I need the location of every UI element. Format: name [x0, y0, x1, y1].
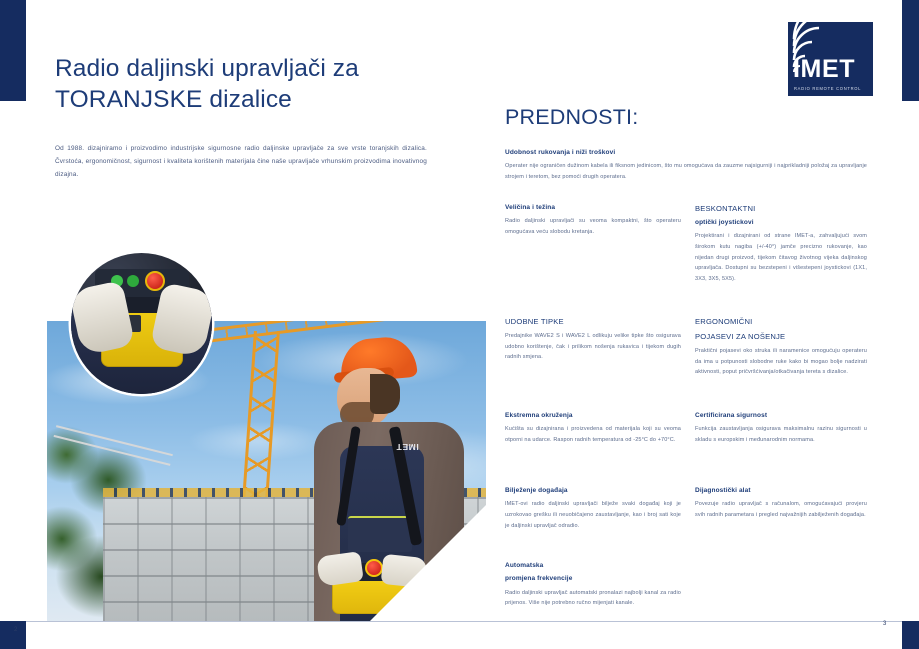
left-page: Radio daljinski upravljači za TORANJSKE … — [0, 0, 486, 649]
feature-subtitle: optički joystickovi — [695, 218, 867, 227]
advantages-section-title: PREDNOSTI: — [505, 105, 638, 130]
feature-body: Projektirani i dizajnirani od strane IME… — [695, 231, 867, 284]
imet-logo: IMET RADIO REMOTE CONTROL — [788, 22, 873, 96]
overalls-pocket — [348, 516, 412, 552]
feature-body: Praktični pojasevi oko struka ili narame… — [695, 346, 867, 378]
page-number-left: 2 — [14, 627, 18, 633]
crane-operator-photo: IMET — [296, 330, 492, 621]
feature-body: Radio daljinski upravljač automatski pro… — [505, 588, 681, 609]
feature-block: Automatska promjena frekvencije Radio da… — [505, 561, 681, 609]
feature-body: Predajnike WAVE2 S i WAVE2 L odlikuju ve… — [505, 331, 681, 363]
page-number-right: 3 — [883, 621, 887, 627]
feature-block: BESKONTAKTNI optički joystickovi Projekt… — [695, 203, 867, 284]
feature-body: Funkcija zaustavljanja osigurava maksima… — [695, 424, 867, 445]
feature-body: Radio daljinski upravljači su veoma komp… — [505, 216, 681, 237]
feature-subtitle: POJASEVI ZA NOŠENJE — [695, 331, 867, 342]
logo-wordmark: IMET — [793, 57, 855, 82]
feature-title: ERGONOMIČNI — [695, 316, 867, 327]
feature-title: Ekstremna okruženja — [505, 411, 681, 420]
feature-body: Operater nije ograničen dužinom kabela i… — [505, 161, 867, 182]
right-page: IMET RADIO REMOTE CONTROL PREDNOSTI: Udo… — [486, 0, 919, 649]
feature-title: Automatska — [505, 561, 681, 570]
feature-block: ERGONOMIČNI POJASEVI ZA NOŠENJE Praktičn… — [695, 316, 867, 378]
feature-block: Veličina i težina Radio daljinski upravl… — [505, 203, 681, 238]
remote-closeup-inset-photo — [71, 253, 212, 394]
feature-body: Kućišta su dizajnirana i proizvedena od … — [505, 424, 681, 445]
page-title: Radio daljinski upravljači za TORANJSKE … — [55, 54, 455, 116]
operator-hair — [370, 374, 400, 414]
feature-body: Povezuje radio upravljač s računalom, om… — [695, 499, 867, 520]
feature-title: Bilježenje događaja — [505, 486, 681, 495]
feature-block: Certificirana sigurnost Funkcija zaustav… — [695, 411, 867, 446]
logo-tagline: RADIO REMOTE CONTROL — [794, 86, 861, 91]
inset-emergency-stop-button[interactable] — [145, 271, 165, 291]
brochure-spread: Radio daljinski upravljači za TORANJSKE … — [0, 0, 919, 649]
feature-body: IMET-ovi radio daljinski upravljači bilj… — [505, 499, 681, 531]
feature-title: Udobnost rukovanja i niži troškovi — [505, 148, 867, 157]
work-glove-left — [316, 551, 364, 587]
feature-title: UDOBNE TIPKE — [505, 316, 681, 327]
feature-block: Udobnost rukovanja i niži troškovi Opera… — [505, 148, 867, 183]
feature-subtitle: promjena frekvencije — [505, 574, 681, 583]
feature-block: Ekstremna okruženja Kućišta su dizajnira… — [505, 411, 681, 446]
feature-block: Dijagnostički alat Povezuje radio upravl… — [695, 486, 867, 521]
emergency-stop-button[interactable] — [365, 559, 383, 577]
feature-title: Certificirana sigurnost — [695, 411, 867, 420]
harness-imet-logo: IMET — [396, 442, 419, 452]
feature-title: BESKONTAKTNI — [695, 203, 867, 214]
feature-title: Dijagnostički alat — [695, 486, 867, 495]
inset-green-button-2[interactable] — [127, 275, 139, 287]
feature-block: UDOBNE TIPKE Predajnike WAVE2 S i WAVE2 … — [505, 316, 681, 363]
feature-title: Veličina i težina — [505, 203, 681, 212]
feature-block: Bilježenje događaja IMET-ovi radio dalji… — [505, 486, 681, 531]
intro-paragraph: Od 1988. dizajniramo i proizvodimo indus… — [55, 142, 427, 181]
